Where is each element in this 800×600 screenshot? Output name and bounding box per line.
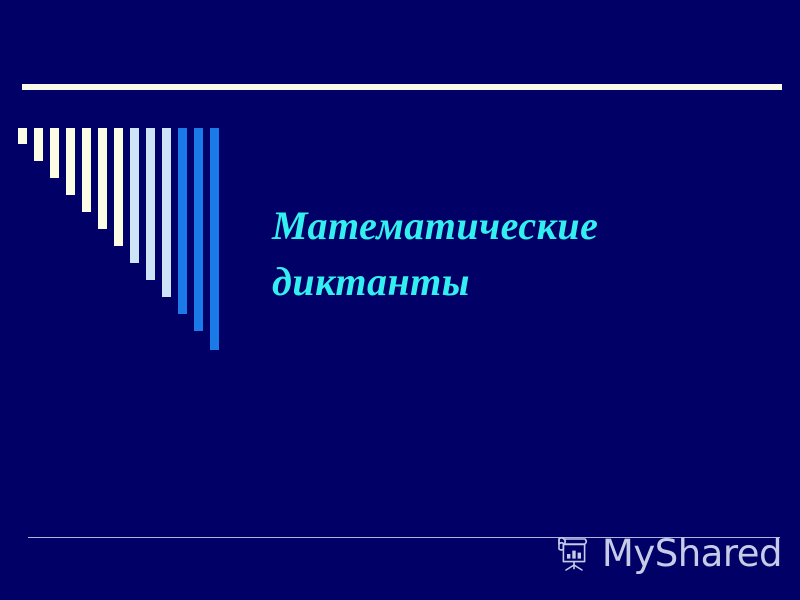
page-title: Математические диктанты: [272, 198, 752, 310]
decoration-bar-6: [98, 128, 107, 229]
decoration-bar-5: [82, 128, 91, 212]
title-line-2: диктанты: [272, 254, 752, 310]
descending-bar-graphic: [18, 128, 233, 358]
decoration-bar-11: [178, 128, 187, 314]
decoration-bar-1: [18, 128, 27, 144]
flipchart-bar-chart-icon: [550, 532, 594, 576]
decoration-bar-4: [66, 128, 75, 195]
presentation-slide: Математические диктанты: [0, 0, 800, 600]
decoration-bar-8: [130, 128, 139, 263]
decoration-bar-2: [34, 128, 43, 161]
myshared-watermark: MyShared: [550, 528, 782, 580]
decoration-bar-13: [210, 128, 219, 350]
decoration-bar-12: [194, 128, 203, 331]
myshared-label: MyShared: [602, 535, 782, 574]
decoration-bar-9: [146, 128, 155, 280]
title-line-1: Математические: [272, 198, 752, 254]
decoration-bar-10: [162, 128, 171, 297]
top-divider-rule: [22, 84, 782, 90]
decoration-bar-7: [114, 128, 123, 246]
decoration-bar-3: [50, 128, 59, 178]
